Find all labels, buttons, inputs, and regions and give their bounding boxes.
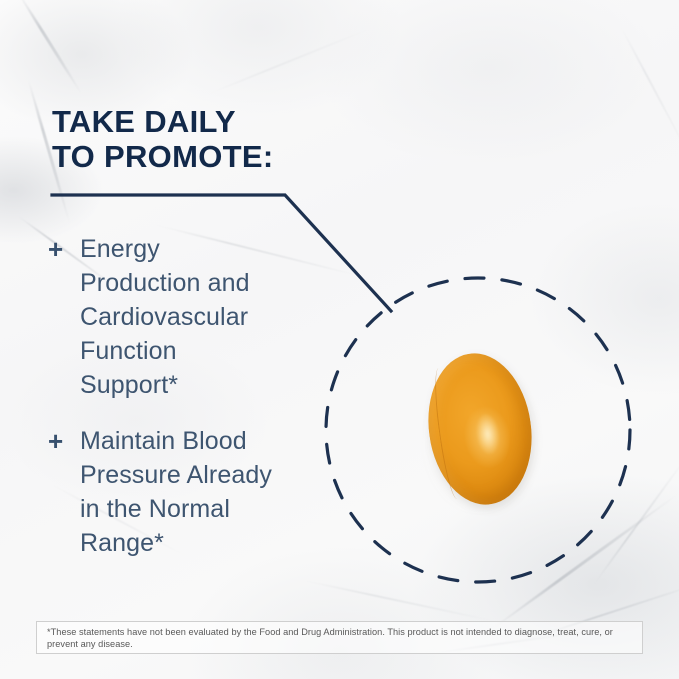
disclaimer-text: *These statements have not been evaluate… <box>47 626 632 650</box>
list-item: + Energy Production and Cardiovascular F… <box>48 232 338 402</box>
plus-icon: + <box>48 424 80 458</box>
product-benefits-graphic: TAKE DAILY TO PROMOTE: + Energy Producti… <box>0 0 679 679</box>
disclaimer-box: *These statements have not been evaluate… <box>36 621 643 654</box>
page-title: TAKE DAILY TO PROMOTE: <box>52 104 382 174</box>
benefits-list: + Energy Production and Cardiovascular F… <box>48 232 338 560</box>
benefit-text: Maintain Blood Pressure Already in the N… <box>80 424 272 560</box>
headline-line-1: TAKE DAILY <box>52 104 382 139</box>
headline-line-2: TO PROMOTE: <box>52 139 382 174</box>
product-capsule <box>419 347 541 512</box>
plus-icon: + <box>48 232 80 266</box>
benefit-text: Energy Production and Cardiovascular Fun… <box>80 232 250 402</box>
list-item: + Maintain Blood Pressure Already in the… <box>48 424 338 560</box>
